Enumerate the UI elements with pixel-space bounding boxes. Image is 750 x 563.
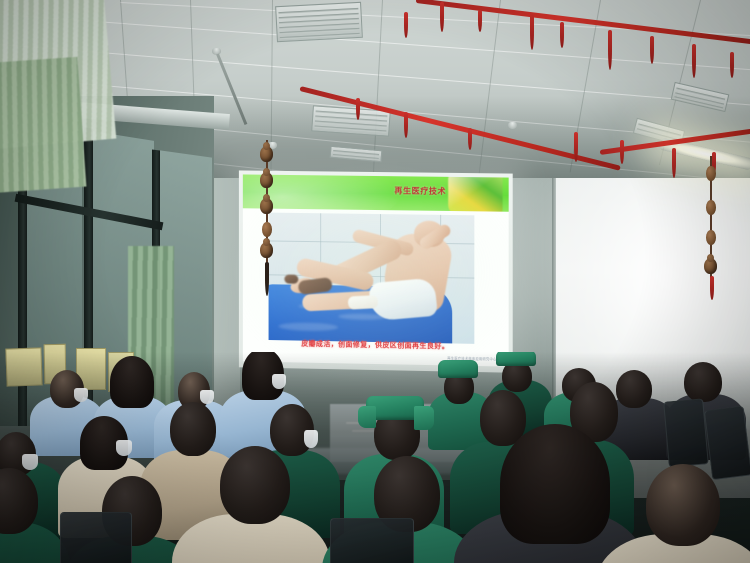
air-vent <box>275 2 363 42</box>
slide-header-bar: 再生医疗技术 <box>243 174 509 211</box>
window-curtain <box>0 57 86 193</box>
red-tassel <box>692 44 696 78</box>
red-tassel <box>730 52 734 78</box>
hanging-gourd-ornament <box>260 242 273 258</box>
slide-photo <box>269 213 475 344</box>
green-surgical-cap <box>438 360 478 378</box>
red-tassel <box>574 132 578 162</box>
fire-sprinkler <box>508 122 517 129</box>
hanging-gourd-ornament <box>260 198 273 214</box>
conference-room-scene: 再生医疗技术 <box>0 0 750 563</box>
chair <box>663 398 709 467</box>
hanging-gourd-ornament <box>260 146 273 162</box>
chair <box>704 406 750 480</box>
slide-content: 再生医疗技术 <box>243 174 509 366</box>
red-tassel <box>265 262 269 296</box>
red-tassel <box>356 98 360 120</box>
donor-site-wound <box>284 275 298 284</box>
green-surgical-cap <box>496 352 536 366</box>
patient-shorts <box>368 278 438 322</box>
red-tassel <box>440 2 444 32</box>
red-tassel <box>468 128 472 150</box>
hanging-gourd-ornament <box>706 230 716 245</box>
red-tassel <box>620 140 624 164</box>
audience-seating <box>0 352 750 563</box>
red-tassel <box>404 12 408 38</box>
projection-screen[interactable]: 再生医疗技术 <box>239 170 513 372</box>
chair <box>330 518 414 563</box>
red-tassel <box>404 112 408 138</box>
red-tassel <box>530 14 534 50</box>
red-tassel <box>608 30 612 70</box>
red-tassel <box>672 148 676 178</box>
red-tassel <box>710 276 714 300</box>
green-surgical-cap <box>358 406 376 428</box>
red-tassel <box>560 22 564 48</box>
green-surgical-cap <box>414 406 434 430</box>
wound-dressing <box>348 295 379 310</box>
header-graphic-icon <box>448 175 502 212</box>
hanging-gourd-ornament <box>704 258 717 274</box>
chair <box>60 512 132 563</box>
hanging-gourd-ornament <box>706 200 716 215</box>
slide-header-title: 再生医疗技术 <box>394 185 446 197</box>
red-tassel <box>478 10 482 32</box>
red-tassel <box>650 36 654 64</box>
hanging-gourd-ornament <box>262 222 272 237</box>
hanging-gourd-ornament <box>706 166 716 181</box>
hanging-gourd-ornament <box>260 172 273 188</box>
